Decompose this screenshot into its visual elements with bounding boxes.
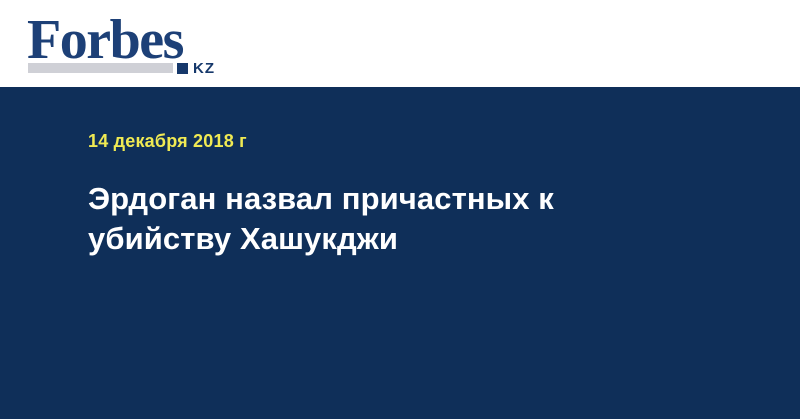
forbes-kz-logo[interactable]: Forbes KZ — [27, 12, 237, 78]
site-header: Forbes KZ — [0, 0, 800, 87]
article-page: Forbes KZ 14 декабря 2018 г Эрдоган назв… — [0, 0, 800, 419]
article-title: Эрдоган назвал причастных к убийству Хаш… — [88, 179, 688, 259]
article-date: 14 декабря 2018 г — [88, 130, 247, 152]
forbes-wordmark: Forbes — [27, 12, 183, 68]
article-hero: 14 декабря 2018 г Эрдоган назвал причаст… — [0, 87, 800, 419]
forbes-kz-suffix: KZ — [193, 61, 215, 76]
logo-square-icon — [177, 63, 188, 74]
logo-bar-icon — [28, 63, 173, 73]
